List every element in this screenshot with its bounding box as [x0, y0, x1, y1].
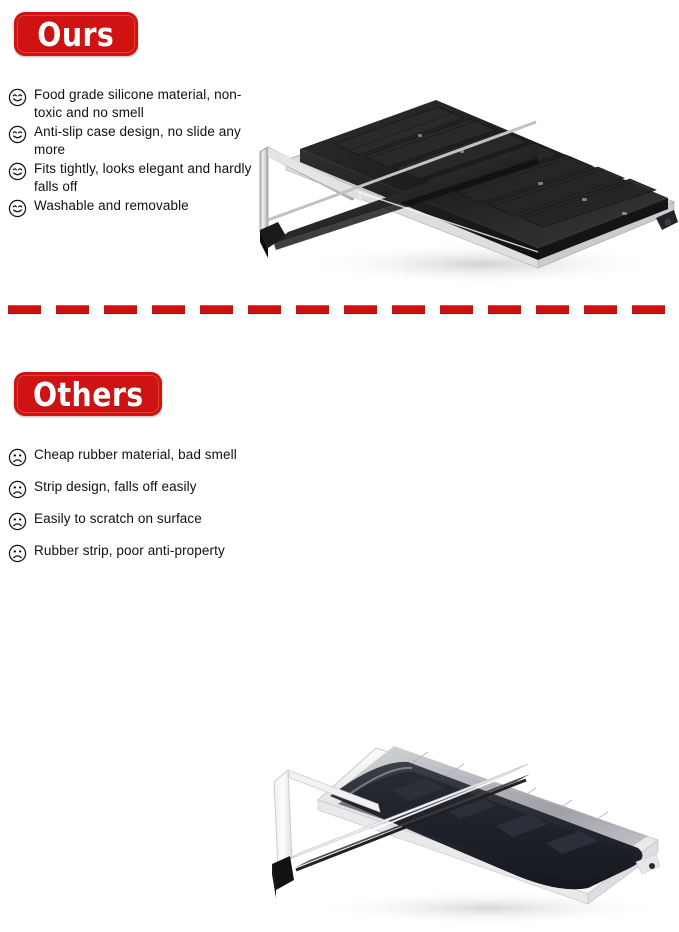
ours-badge-label: Ours — [38, 18, 115, 51]
list-item: Washable and removable — [8, 197, 260, 218]
divider-dash — [104, 305, 137, 314]
divider-dash — [248, 305, 281, 314]
divider-dash — [584, 305, 617, 314]
list-item: Anti-slip case design, no slide any more — [8, 123, 260, 158]
ours-product-photo — [238, 52, 679, 296]
others-badge: Others — [14, 372, 162, 416]
others-feature-list: Cheap rubber material, bad smell Strip d… — [8, 446, 280, 574]
feature-text: Food grade silicone material, non-toxic … — [34, 86, 260, 121]
divider-dash — [536, 305, 569, 314]
sad-face-icon — [8, 544, 27, 563]
list-item: Cheap rubber material, bad smell — [8, 446, 280, 467]
divider-dash — [392, 305, 425, 314]
others-product-photo — [258, 712, 679, 932]
divider-dash — [152, 305, 185, 314]
list-item: Strip design, falls off easily — [8, 478, 280, 499]
sad-face-icon — [8, 480, 27, 499]
feature-text: Fits tightly, looks elegant and hardly f… — [34, 160, 260, 195]
happy-face-icon — [8, 162, 27, 181]
list-item: Easily to scratch on surface — [8, 510, 280, 531]
sad-face-icon — [8, 512, 27, 531]
list-item: Rubber strip, poor anti-property — [8, 542, 280, 563]
happy-face-icon — [8, 88, 27, 107]
divider-dash — [488, 305, 521, 314]
feature-text: Easily to scratch on surface — [34, 510, 202, 528]
divider-dash — [200, 305, 233, 314]
list-item: Fits tightly, looks elegant and hardly f… — [8, 160, 260, 195]
others-section: Others Cheap rubber material, bad smell — [0, 330, 679, 602]
ours-badge: Ours — [14, 12, 138, 56]
dashed-divider — [8, 305, 671, 315]
feature-text: Cheap rubber material, bad smell — [34, 446, 237, 464]
divider-dash — [296, 305, 329, 314]
divider-dash — [440, 305, 473, 314]
feature-text: Strip design, falls off easily — [34, 478, 197, 496]
happy-face-icon — [8, 199, 27, 218]
divider-dash — [632, 305, 665, 314]
divider-dash — [56, 305, 89, 314]
feature-text: Rubber strip, poor anti-property — [34, 542, 225, 560]
others-badge-label: Others — [33, 378, 144, 411]
divider-dash — [8, 305, 41, 314]
ours-feature-list: Food grade silicone material, non-toxic … — [8, 86, 260, 220]
list-item: Food grade silicone material, non-toxic … — [8, 86, 260, 121]
feature-text: Anti-slip case design, no slide any more — [34, 123, 260, 158]
feature-text: Washable and removable — [34, 197, 189, 215]
ours-section: Ours Food grade silicone material, non-t… — [0, 0, 679, 296]
sad-face-icon — [8, 448, 27, 467]
divider-dash — [344, 305, 377, 314]
happy-face-icon — [8, 125, 27, 144]
